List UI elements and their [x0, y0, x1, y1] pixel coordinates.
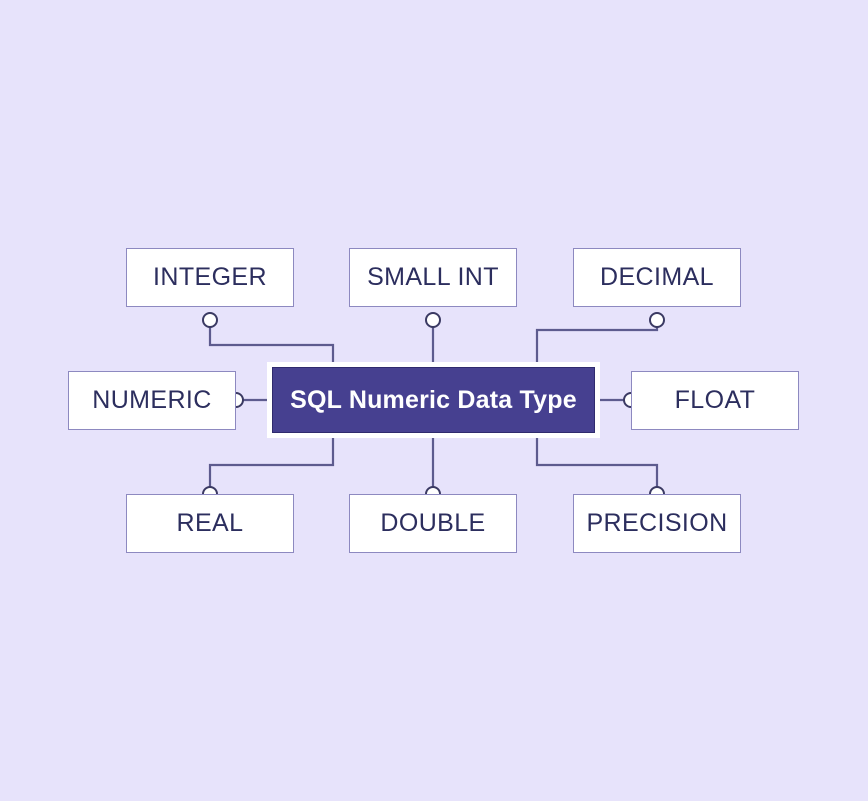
- connector-line-decimal: [537, 327, 657, 362]
- node-label-integer: INTEGER: [153, 263, 267, 292]
- connector-dot-decimal: [650, 313, 664, 327]
- connector-line-precision: [537, 438, 657, 488]
- node-label-decimal: DECIMAL: [600, 263, 714, 292]
- node-real[interactable]: REAL: [126, 494, 294, 553]
- connector-line-real: [210, 438, 333, 488]
- hub-node[interactable]: SQL Numeric Data Type: [267, 362, 600, 438]
- node-double[interactable]: DOUBLE: [349, 494, 517, 553]
- node-label-precision: PRECISION: [586, 509, 727, 538]
- node-precision[interactable]: PRECISION: [573, 494, 741, 553]
- connector-dot-integer: [203, 313, 217, 327]
- connector-line-integer: [210, 327, 333, 362]
- node-label-float: FLOAT: [675, 386, 756, 415]
- node-label-small-int: SMALL INT: [367, 263, 499, 292]
- node-float[interactable]: FLOAT: [631, 371, 799, 430]
- connector-dot-small-int: [426, 313, 440, 327]
- node-integer[interactable]: INTEGER: [126, 248, 294, 307]
- node-label-numeric: NUMERIC: [92, 386, 211, 415]
- hub-label: SQL Numeric Data Type: [272, 367, 595, 433]
- node-numeric[interactable]: NUMERIC: [68, 371, 236, 430]
- node-decimal[interactable]: DECIMAL: [573, 248, 741, 307]
- node-label-double: DOUBLE: [380, 509, 485, 538]
- node-label-real: REAL: [177, 509, 244, 538]
- node-small-int[interactable]: SMALL INT: [349, 248, 517, 307]
- diagram-canvas: INTEGER SMALL INT DECIMAL NUMERIC FLOAT …: [0, 0, 868, 801]
